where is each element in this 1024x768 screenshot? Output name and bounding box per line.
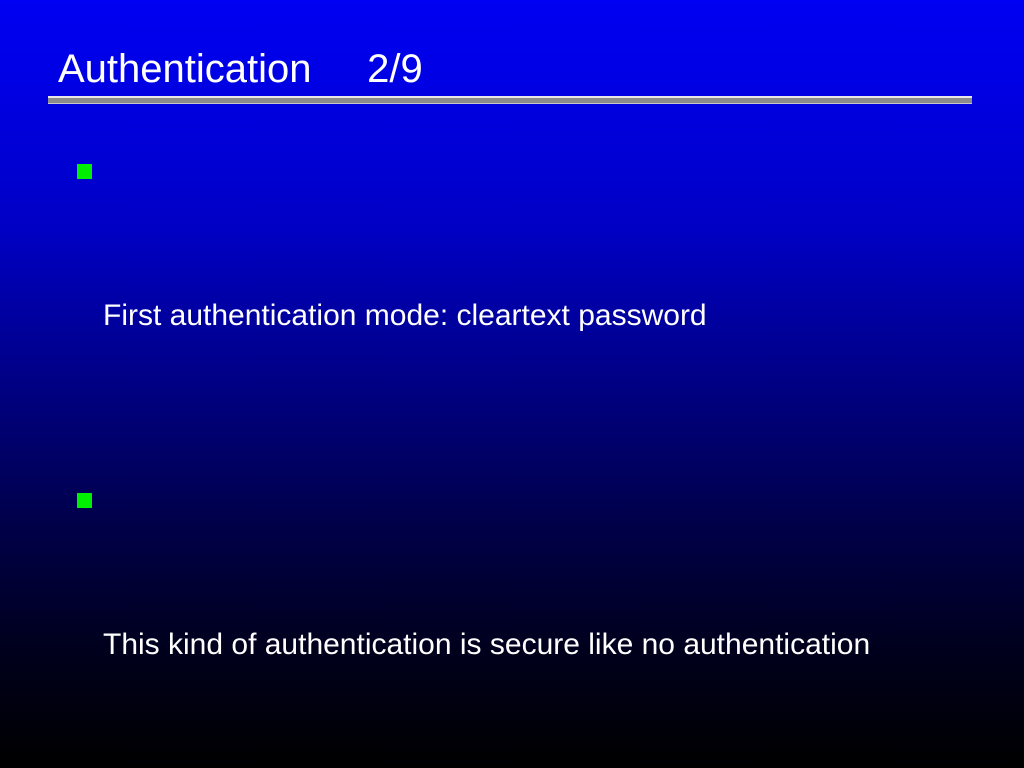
- bullet-list: First authentication mode: cleartext pas…: [68, 148, 988, 768]
- square-bullet-icon: [77, 493, 92, 508]
- list-item: First authentication mode: cleartext pas…: [68, 148, 988, 436]
- list-item-label: This kind of authentication is secure li…: [103, 621, 988, 669]
- rule-lowlight: [48, 103, 972, 104]
- page-title: Authentication 2/9: [58, 44, 423, 94]
- square-bullet-icon: [77, 164, 92, 179]
- list-item-label: First authentication mode: cleartext pas…: [103, 292, 988, 340]
- slide-title-block: Authentication 2/9: [48, 44, 972, 104]
- title-underline-rule: [48, 96, 972, 104]
- list-item: This kind of authentication is secure li…: [68, 477, 988, 768]
- presentation-slide: Authentication 2/9 First authentication …: [0, 0, 1024, 768]
